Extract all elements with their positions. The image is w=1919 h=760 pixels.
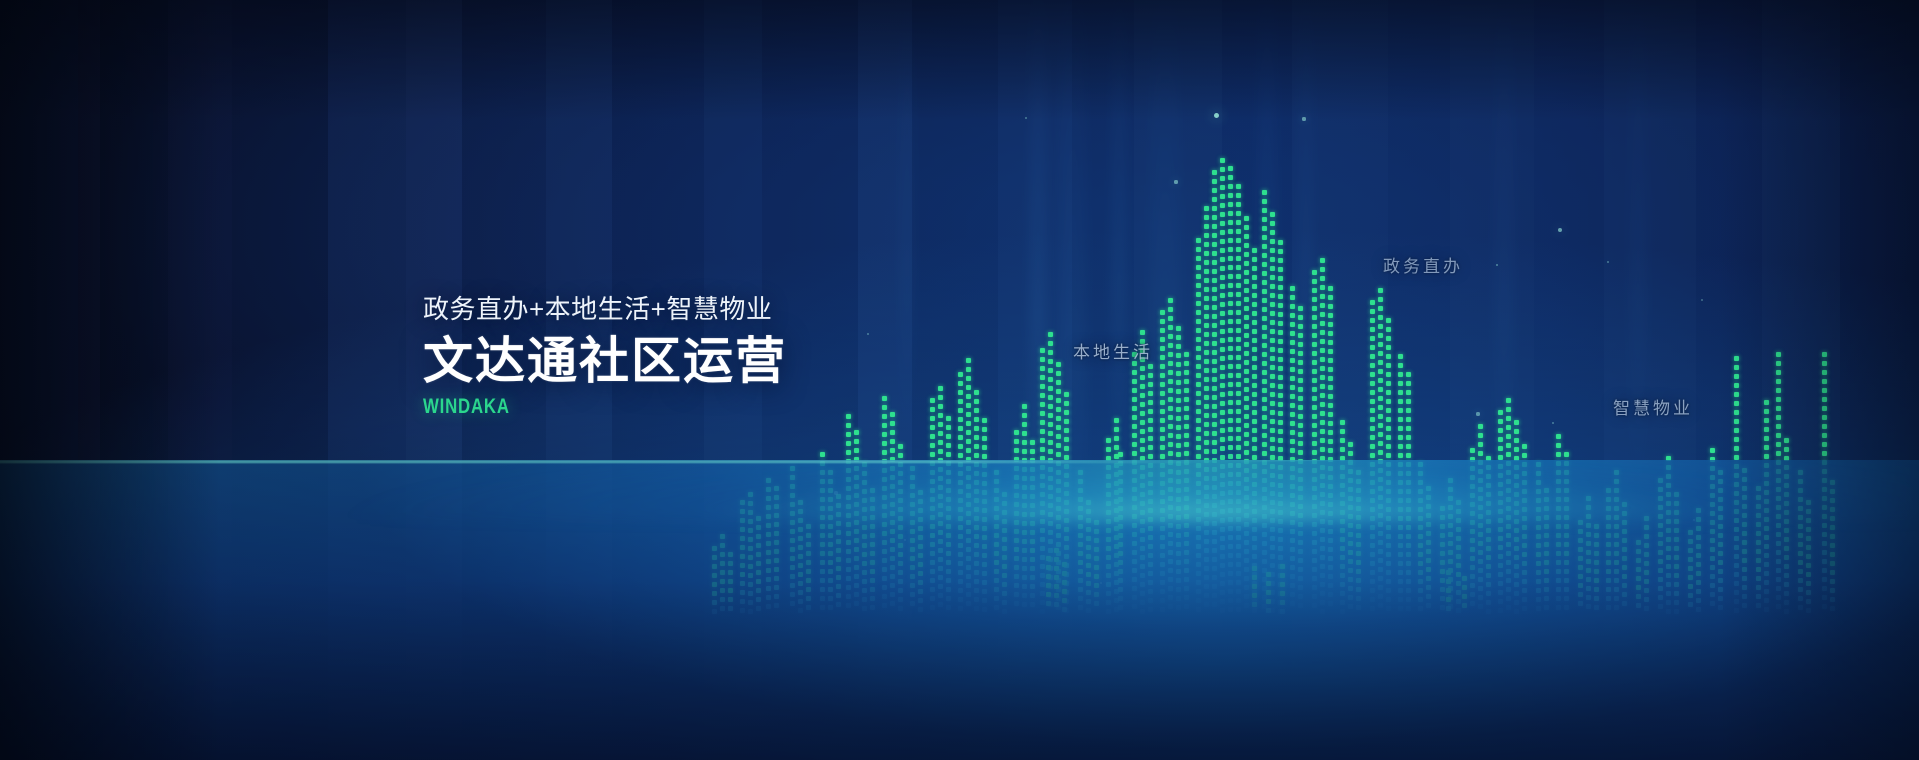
led-dot <box>1212 233 1217 238</box>
led-dot <box>890 448 895 453</box>
led-dot <box>1168 325 1173 330</box>
led-dot <box>1022 413 1027 418</box>
led-dot <box>1212 242 1217 247</box>
led-dot <box>1312 342 1317 347</box>
led-dot <box>1290 448 1295 453</box>
led-dot <box>1220 284 1225 289</box>
led-dot <box>1278 339 1283 344</box>
led-dot <box>1278 357 1283 362</box>
led-dot <box>1278 321 1283 326</box>
led-dot <box>1278 285 1283 290</box>
led-dot <box>1522 444 1527 449</box>
led-dot <box>1312 324 1317 329</box>
led-dot <box>1176 398 1181 403</box>
led-dot <box>1040 402 1045 407</box>
led-dot <box>1270 212 1275 217</box>
led-dot <box>1320 411 1325 416</box>
led-dot <box>958 435 963 440</box>
led-dot <box>1212 395 1217 400</box>
led-dot <box>982 436 987 441</box>
led-dot <box>1196 283 1201 288</box>
led-dot <box>1262 244 1267 249</box>
led-dot <box>1176 434 1181 439</box>
led-dot <box>1184 424 1189 429</box>
led-dot <box>1506 434 1511 439</box>
led-dot <box>938 449 943 454</box>
led-dot <box>1056 452 1061 457</box>
led-dot <box>1106 447 1111 452</box>
led-dot <box>1132 370 1137 375</box>
led-dot <box>1262 262 1267 267</box>
led-dot <box>1398 408 1403 413</box>
led-dot <box>1320 420 1325 425</box>
led-dot <box>1220 320 1225 325</box>
led-dot <box>1220 176 1225 181</box>
led-dot <box>974 453 979 458</box>
led-dot <box>1506 398 1511 403</box>
led-dot <box>1140 429 1145 434</box>
led-dot <box>1406 435 1411 440</box>
led-dot <box>882 441 887 446</box>
led-dot <box>1378 396 1383 401</box>
led-dot <box>1228 211 1233 216</box>
led-dot <box>1148 400 1153 405</box>
led-dot <box>1270 275 1275 280</box>
led-dot <box>1370 381 1375 386</box>
led-dot <box>1212 197 1217 202</box>
led-dot <box>1176 353 1181 358</box>
vignette-top <box>0 0 1919 120</box>
led-dot <box>1244 414 1249 419</box>
led-dot <box>1252 383 1257 388</box>
led-dot <box>1386 390 1391 395</box>
led-dot <box>1204 449 1209 454</box>
led-dot <box>1220 239 1225 244</box>
led-dot <box>1312 378 1317 383</box>
led-dot <box>1132 451 1137 456</box>
led-dot <box>1176 425 1181 430</box>
led-dot <box>1270 365 1275 370</box>
led-dot <box>1278 447 1283 452</box>
led-dot <box>1398 363 1403 368</box>
led-dot <box>938 431 943 436</box>
led-dot <box>1056 434 1061 439</box>
led-dot <box>1204 359 1209 364</box>
led-dot <box>1140 438 1145 443</box>
led-dot <box>1048 440 1053 445</box>
led-dot <box>1270 401 1275 406</box>
led-dot <box>1204 431 1209 436</box>
led-dot <box>1056 371 1061 376</box>
led-dot <box>1398 444 1403 449</box>
ground-vignette <box>0 460 1919 760</box>
led-dot <box>1320 276 1325 281</box>
led-dot <box>1040 393 1045 398</box>
led-dot <box>1228 382 1233 387</box>
led-dot <box>1040 420 1045 425</box>
led-dot <box>1140 330 1145 335</box>
led-dot <box>1370 363 1375 368</box>
led-dot <box>1564 452 1569 457</box>
led-dot <box>1236 274 1241 279</box>
led-dot <box>1204 305 1209 310</box>
led-dot <box>1236 391 1241 396</box>
led-dot <box>1252 401 1257 406</box>
led-dot <box>1506 407 1511 412</box>
led-dot <box>1506 443 1511 448</box>
led-dot <box>1160 355 1165 360</box>
led-dot <box>938 422 943 427</box>
led-dot <box>1184 388 1189 393</box>
led-dot <box>1270 320 1275 325</box>
led-dot <box>1220 347 1225 352</box>
led-dot <box>1220 410 1225 415</box>
led-dot <box>1160 454 1165 459</box>
led-dot <box>1236 445 1241 450</box>
led-dot <box>1236 247 1241 252</box>
led-dot <box>1228 274 1233 279</box>
led-dot <box>1252 293 1257 298</box>
led-dot <box>1030 449 1035 454</box>
led-dot <box>1228 454 1233 459</box>
led-dot <box>1320 384 1325 389</box>
led-dot <box>1220 365 1225 370</box>
led-dot <box>1320 429 1325 434</box>
led-dot <box>1320 330 1325 335</box>
led-dot <box>1506 416 1511 421</box>
led-dot <box>1168 424 1173 429</box>
led-dot <box>1184 352 1189 357</box>
led-dot <box>1022 440 1027 445</box>
led-dot <box>1270 248 1275 253</box>
led-dot <box>1478 442 1483 447</box>
led-dot <box>1040 384 1045 389</box>
led-dot <box>1328 295 1333 300</box>
led-dot <box>1278 411 1283 416</box>
led-dot <box>1204 233 1209 238</box>
led-dot <box>1228 409 1233 414</box>
led-dot <box>1148 436 1153 441</box>
led-dot <box>1252 284 1257 289</box>
led-dot <box>1328 313 1333 318</box>
led-dot <box>820 452 825 457</box>
led-dot <box>1370 327 1375 332</box>
led-dot <box>1370 300 1375 305</box>
led-dot <box>1236 319 1241 324</box>
led-dot <box>982 427 987 432</box>
led-dot <box>882 432 887 437</box>
led-dot <box>958 426 963 431</box>
led-dot <box>1040 375 1045 380</box>
led-dot <box>1176 443 1181 448</box>
led-dot <box>1148 409 1153 414</box>
led-dot <box>1378 387 1383 392</box>
led-dot <box>966 421 971 426</box>
led-dot <box>1320 312 1325 317</box>
led-dot <box>1196 436 1201 441</box>
led-dot <box>1040 411 1045 416</box>
led-dot <box>1236 427 1241 432</box>
led-dot <box>1204 278 1209 283</box>
led-dot <box>1270 257 1275 262</box>
led-dot <box>1212 251 1217 256</box>
led-dot <box>1386 345 1391 350</box>
led-dot <box>1320 447 1325 452</box>
led-dot <box>1378 351 1383 356</box>
led-dot <box>1262 199 1267 204</box>
led-dot <box>1168 298 1173 303</box>
led-dot <box>1196 382 1201 387</box>
led-dot <box>1244 234 1249 239</box>
led-dot <box>1406 399 1411 404</box>
led-dot <box>1262 415 1267 420</box>
led-dot <box>1048 404 1053 409</box>
led-dot <box>1262 343 1267 348</box>
led-dot <box>1398 381 1403 386</box>
headline-block: 政务直办+本地生活+智慧物业 文达通社区运营 WINDAKA <box>423 296 983 417</box>
led-dot <box>1212 359 1217 364</box>
led-dot <box>1290 358 1295 363</box>
led-dot <box>1132 397 1137 402</box>
led-dot <box>1270 419 1275 424</box>
led-dot <box>1312 405 1317 410</box>
led-dot <box>1298 351 1303 356</box>
led-dot <box>1204 314 1209 319</box>
led-dot <box>1184 397 1189 402</box>
led-dot <box>1132 379 1137 384</box>
led-dot <box>1220 275 1225 280</box>
led-dot <box>1168 343 1173 348</box>
led-dot <box>1262 334 1267 339</box>
led-dot <box>1328 439 1333 444</box>
led-dot <box>1204 296 1209 301</box>
led-dot <box>1236 328 1241 333</box>
led-dot <box>1320 294 1325 299</box>
led-dot <box>1160 391 1165 396</box>
led-dot <box>1370 444 1375 449</box>
sparkle-icon <box>1558 228 1562 232</box>
led-dot <box>1160 310 1165 315</box>
led-dot <box>1320 375 1325 380</box>
led-dot <box>1298 360 1303 365</box>
led-dot <box>1320 258 1325 263</box>
led-dot <box>1378 450 1383 455</box>
led-dot <box>1056 425 1061 430</box>
led-dot <box>1014 430 1019 435</box>
led-dot <box>1386 453 1391 458</box>
led-dot <box>1370 453 1375 458</box>
led-dot <box>1228 283 1233 288</box>
led-dot <box>1220 203 1225 208</box>
led-dot <box>1040 447 1045 452</box>
led-dot <box>1340 429 1345 434</box>
led-dot <box>1312 288 1317 293</box>
led-dot <box>1212 269 1217 274</box>
led-dot <box>1220 257 1225 262</box>
led-dot <box>1386 426 1391 431</box>
led-dot <box>1398 417 1403 422</box>
led-dot <box>1378 378 1383 383</box>
led-dot <box>1204 287 1209 292</box>
led-dot <box>1378 297 1383 302</box>
led-dot <box>854 430 859 435</box>
led-dot <box>1298 423 1303 428</box>
led-dot <box>1244 360 1249 365</box>
led-dot <box>1370 309 1375 314</box>
led-dot <box>1168 406 1173 411</box>
led-dot <box>898 453 903 458</box>
led-dot <box>1262 424 1267 429</box>
led-dot <box>1290 331 1295 336</box>
led-dot <box>1270 239 1275 244</box>
led-dot <box>1236 211 1241 216</box>
led-dot <box>1298 324 1303 329</box>
led-dot <box>1290 322 1295 327</box>
led-dot <box>1236 238 1241 243</box>
led-dot <box>1244 387 1249 392</box>
led-dot <box>1290 304 1295 309</box>
led-dot <box>1168 334 1173 339</box>
led-dot <box>1278 366 1283 371</box>
led-dot <box>1278 294 1283 299</box>
led-dot <box>966 439 971 444</box>
led-dot <box>1220 437 1225 442</box>
led-dot <box>1312 360 1317 365</box>
led-dot <box>1290 367 1295 372</box>
led-dot <box>1236 436 1241 441</box>
led-dot <box>1270 347 1275 352</box>
led-dot <box>1340 447 1345 452</box>
led-dot <box>974 417 979 422</box>
led-dot <box>1270 437 1275 442</box>
led-dot <box>1148 364 1153 369</box>
led-dot <box>1290 430 1295 435</box>
led-dot <box>1160 427 1165 432</box>
led-dot <box>1212 188 1217 193</box>
led-dot <box>1040 429 1045 434</box>
led-dot <box>1184 361 1189 366</box>
led-dot <box>1160 319 1165 324</box>
led-dot <box>1244 396 1249 401</box>
led-dot <box>1298 432 1303 437</box>
led-dot <box>1132 433 1137 438</box>
led-dot <box>1220 338 1225 343</box>
led-dot <box>1320 393 1325 398</box>
led-dot <box>930 434 935 439</box>
led-dot <box>1048 377 1053 382</box>
led-dot <box>1406 426 1411 431</box>
led-dot <box>1290 376 1295 381</box>
led-dot <box>974 426 979 431</box>
led-dot <box>1278 348 1283 353</box>
led-dot <box>854 439 859 444</box>
led-dot <box>1236 292 1241 297</box>
led-dot <box>1168 442 1173 447</box>
led-dot <box>1290 295 1295 300</box>
led-dot <box>1340 438 1345 443</box>
led-dot <box>1228 310 1233 315</box>
led-dot <box>1406 390 1411 395</box>
led-dot <box>946 434 951 439</box>
led-dot <box>1262 442 1267 447</box>
led-dot <box>1370 426 1375 431</box>
perspective-ground <box>0 460 1919 760</box>
led-dot <box>1236 193 1241 198</box>
led-dot <box>1204 332 1209 337</box>
led-dot <box>1252 320 1257 325</box>
led-dot <box>1320 339 1325 344</box>
led-dot <box>1386 327 1391 332</box>
led-dot <box>1298 306 1303 311</box>
led-dot <box>1114 445 1119 450</box>
led-dot <box>1386 444 1391 449</box>
led-dot <box>1298 396 1303 401</box>
led-dot <box>1228 418 1233 423</box>
led-dot <box>1204 206 1209 211</box>
led-dot <box>1228 364 1233 369</box>
led-dot <box>1160 337 1165 342</box>
led-dot <box>1212 332 1217 337</box>
led-dot <box>1386 354 1391 359</box>
led-dot <box>1262 280 1267 285</box>
led-dot <box>1184 379 1189 384</box>
led-dot <box>1398 453 1403 458</box>
led-dot <box>938 440 943 445</box>
led-dot <box>1244 243 1249 248</box>
led-dot <box>1204 413 1209 418</box>
led-dot <box>974 444 979 449</box>
led-dot <box>1220 230 1225 235</box>
led-dot <box>1204 251 1209 256</box>
led-dot <box>1236 454 1241 459</box>
led-dot <box>1252 365 1257 370</box>
led-dot <box>1244 279 1249 284</box>
led-dot <box>1056 389 1061 394</box>
led-dot <box>1228 247 1233 252</box>
led-dot <box>1184 370 1189 375</box>
led-dot <box>1312 306 1317 311</box>
led-dot <box>958 444 963 449</box>
led-dot <box>1056 362 1061 367</box>
led-dot <box>1228 175 1233 180</box>
led-dot <box>1160 418 1165 423</box>
led-dot <box>1244 216 1249 221</box>
led-dot <box>1184 415 1189 420</box>
led-dot <box>966 448 971 453</box>
led-dot <box>1252 248 1257 253</box>
led-dot <box>1236 337 1241 342</box>
sparkle-icon <box>1476 412 1479 415</box>
led-dot <box>1228 400 1233 405</box>
led-dot <box>1270 284 1275 289</box>
led-dot <box>1244 450 1249 455</box>
led-dot <box>1140 411 1145 416</box>
led-dot <box>1132 388 1137 393</box>
led-dot <box>1236 355 1241 360</box>
led-dot <box>1278 276 1283 281</box>
led-dot <box>1312 369 1317 374</box>
led-dot <box>1220 158 1225 163</box>
led-dot <box>1048 449 1053 454</box>
led-dot <box>1252 257 1257 262</box>
led-dot <box>1022 422 1027 427</box>
led-dot <box>1212 431 1217 436</box>
led-dot <box>1236 382 1241 387</box>
led-dot <box>1132 415 1137 420</box>
led-dot <box>1378 342 1383 347</box>
led-dot <box>1252 446 1257 451</box>
led-dot <box>1212 422 1217 427</box>
